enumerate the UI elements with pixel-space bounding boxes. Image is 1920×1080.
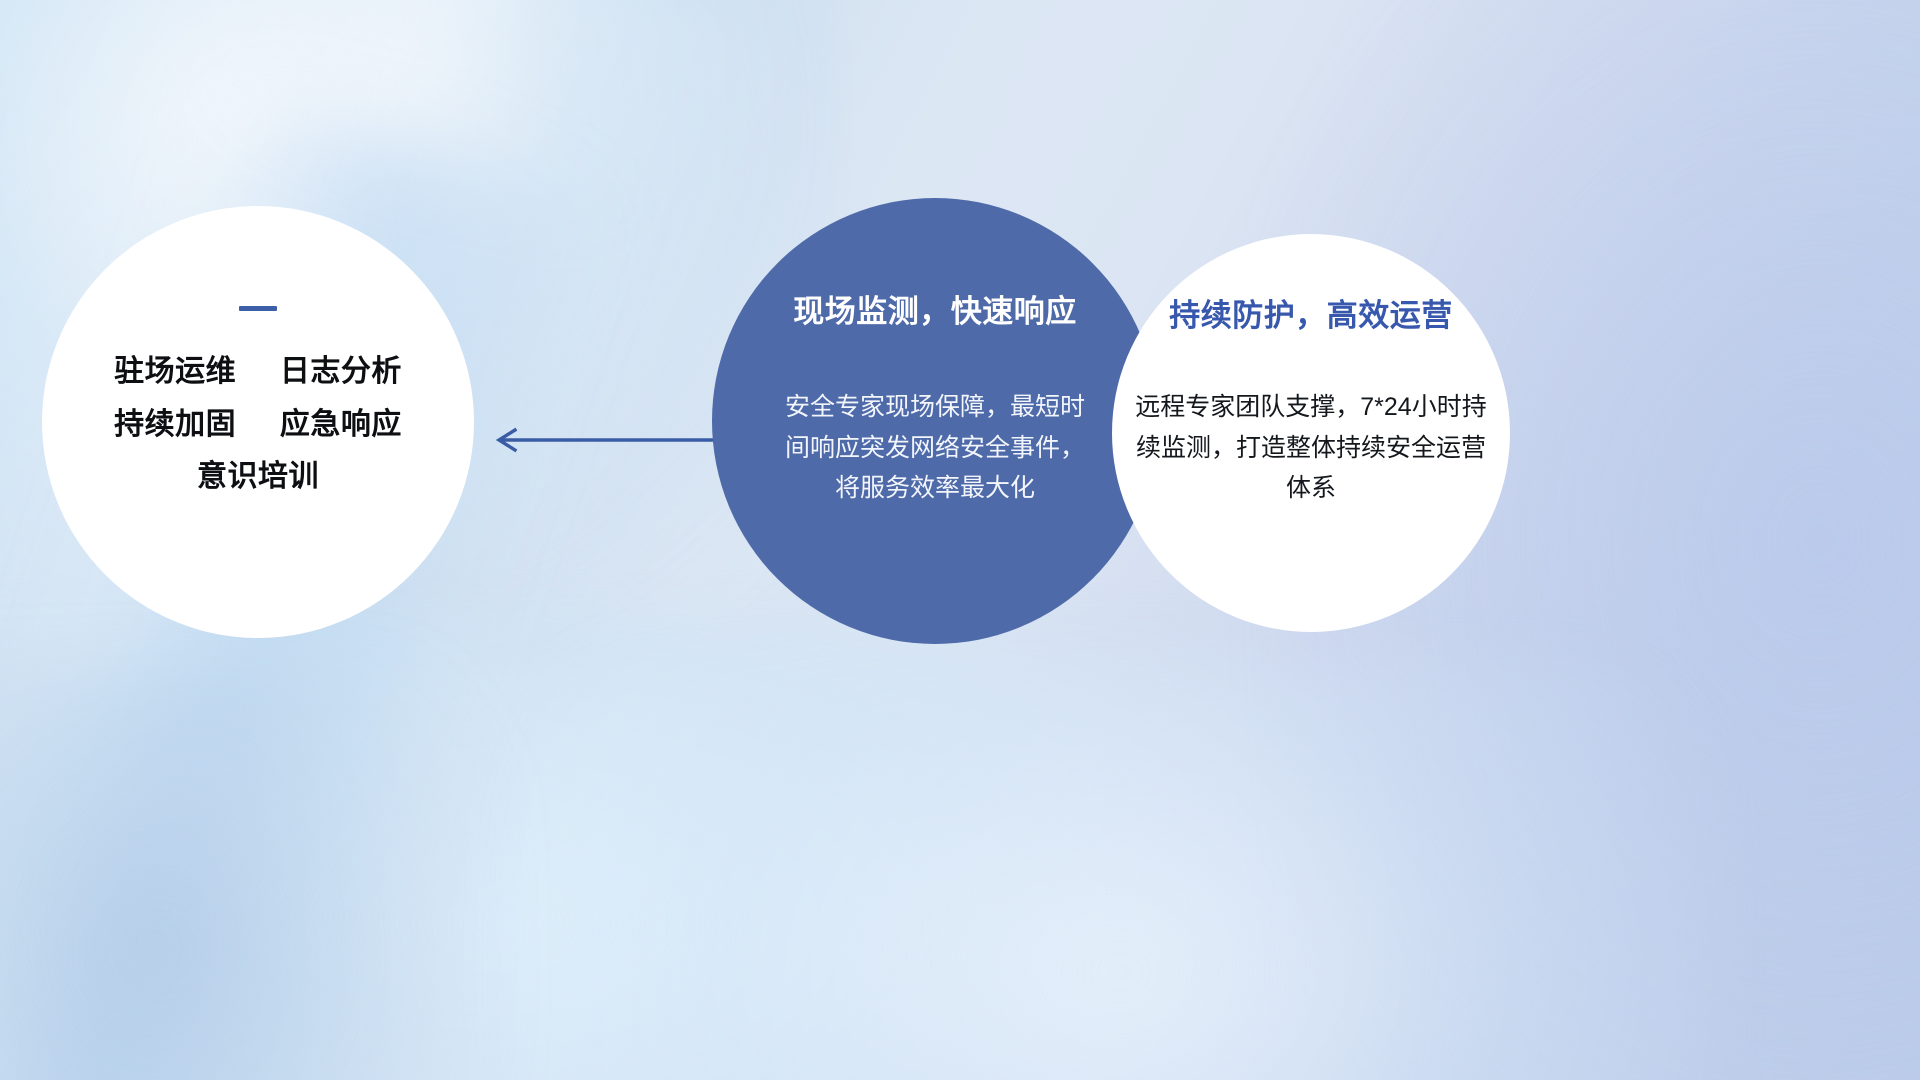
capability-circle-left[interactable]: 驻场运维 日志分析 持续加固 应急响应 意识培训 [42, 206, 474, 638]
keyword: 驻场运维 [114, 355, 236, 388]
keyword: 持续加固 [114, 408, 236, 441]
circle-body-text: 安全专家现场保障，最短时间响应突发网络安全事件，将服务效率最大化 [785, 387, 1085, 509]
background-shade-bottom-left [0, 660, 500, 1080]
background-haze-bottom-right [520, 660, 1720, 1080]
dash-divider-icon [239, 306, 277, 311]
circle-body-text: 远程专家团队支撑，7*24小时持续监测，打造整体持续安全运营体系 [1135, 387, 1487, 509]
capability-keyword-list: 驻场运维 日志分析 持续加固 应急响应 意识培训 [114, 355, 402, 494]
keyword: 日志分析 [280, 355, 402, 388]
flow-arrow-left-icon [488, 418, 718, 462]
list-item: 持续加固 应急响应 [114, 408, 402, 442]
slide-canvas: 驻场运维 日志分析 持续加固 应急响应 意识培训 现场监测，快速响应 安全专家现… [0, 0, 1920, 1080]
keyword: 意识培训 [197, 460, 319, 493]
keyword: 应急响应 [280, 408, 402, 441]
circle-title: 现场监测，快速响应 [793, 286, 1077, 331]
list-item: 驻场运维 日志分析 [114, 355, 402, 389]
list-item: 意识培训 [114, 460, 402, 494]
circle-title: 持续防护，高效运营 [1169, 290, 1453, 335]
capability-circle-right[interactable]: 持续防护，高效运营 远程专家团队支撑，7*24小时持续监测，打造整体持续安全运营… [1112, 234, 1510, 632]
capability-circle-middle[interactable]: 现场监测，快速响应 安全专家现场保障，最短时间响应突发网络安全事件，将服务效率最… [712, 198, 1158, 644]
